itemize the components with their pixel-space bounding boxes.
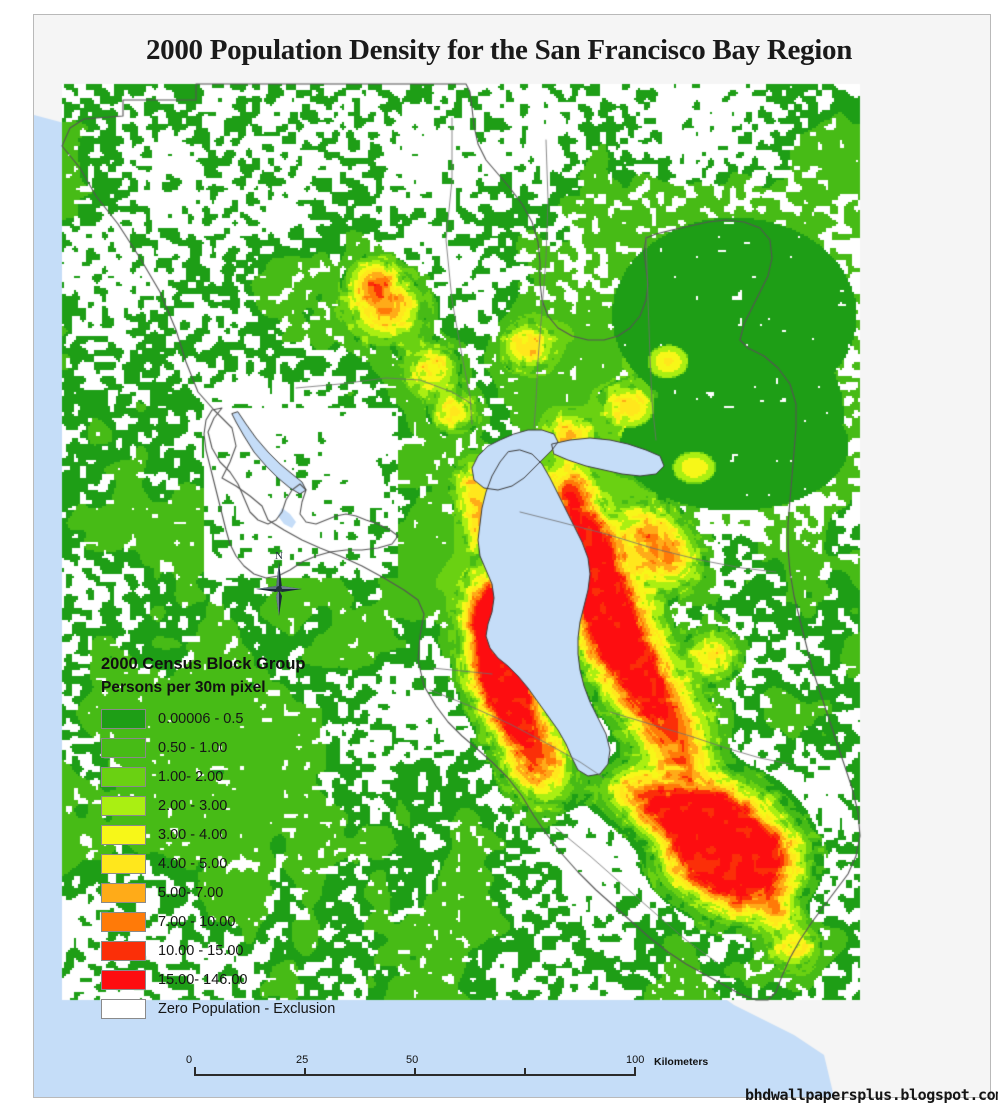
scalebar-endcap xyxy=(194,1067,196,1076)
legend-label: 1.00- 2.00 xyxy=(158,769,223,785)
legend-swatch xyxy=(101,941,146,961)
legend-swatch xyxy=(101,767,146,787)
legend-label: 4.00 - 5.00 xyxy=(158,856,227,872)
legend-row: 7.00 - 10.00 xyxy=(101,907,335,936)
legend-items: 0.00006 - 0.50.50 - 1.001.00- 2.002.00 -… xyxy=(101,704,335,1023)
scalebar-tick-label: 50 xyxy=(406,1054,418,1066)
scalebar-endcap xyxy=(634,1067,636,1076)
legend-row: 0.00006 - 0.5 xyxy=(101,704,335,733)
legend-swatch xyxy=(101,825,146,845)
legend-label: 7.00 - 10.00 xyxy=(158,914,235,930)
scalebar-units-label: Kilometers xyxy=(654,1056,708,1068)
scalebar-tick-label: 25 xyxy=(296,1054,308,1066)
legend-title: 2000 Census Block Group xyxy=(101,655,335,674)
legend-subtitle: Persons per 30m pixel xyxy=(101,679,335,697)
legend-row: 15.00- 146.00 xyxy=(101,965,335,994)
legend-swatch xyxy=(101,970,146,990)
scalebar-tick-label: 0 xyxy=(186,1054,192,1066)
north-arrow-label: N xyxy=(275,550,283,562)
legend-row: 0.50 - 1.00 xyxy=(101,733,335,762)
legend-swatch xyxy=(101,796,146,816)
legend-swatch xyxy=(101,912,146,932)
legend-label: 5.00- 7.00 xyxy=(158,885,223,901)
legend-swatch xyxy=(101,709,146,729)
legend-row: Zero Population - Exclusion xyxy=(101,994,335,1023)
legend-swatch xyxy=(101,883,146,903)
scalebar-tick xyxy=(414,1068,416,1075)
north-arrow: N xyxy=(254,546,304,618)
legend-row: 2.00 - 3.00 xyxy=(101,791,335,820)
legend-row: 4.00 - 5.00 xyxy=(101,849,335,878)
watermark: bhdwallpapersplus.blogspot.com xyxy=(745,1086,998,1104)
legend-label: 2.00 - 3.00 xyxy=(158,798,227,814)
legend-label: Zero Population - Exclusion xyxy=(158,1001,335,1017)
scalebar: 02550100 Kilometers xyxy=(186,1054,716,1088)
legend-label: 0.00006 - 0.5 xyxy=(158,711,243,727)
scalebar-tick xyxy=(304,1068,306,1075)
legend-row: 1.00- 2.00 xyxy=(101,762,335,791)
legend-row: 3.00 - 4.00 xyxy=(101,820,335,849)
scalebar-tick-label: 100 xyxy=(626,1054,644,1066)
compass-rose-icon: N xyxy=(254,546,304,618)
legend-row: 5.00- 7.00 xyxy=(101,878,335,907)
legend-label: 3.00 - 4.00 xyxy=(158,827,227,843)
legend: 2000 Census Block Group Persons per 30m … xyxy=(101,655,335,1023)
legend-row: 10.00 - 15.00 xyxy=(101,936,335,965)
legend-label: 0.50 - 1.00 xyxy=(158,740,227,756)
scalebar-tick xyxy=(524,1068,526,1075)
legend-swatch xyxy=(101,999,146,1019)
legend-swatch xyxy=(101,854,146,874)
legend-label: 10.00 - 15.00 xyxy=(158,943,243,959)
map-page: 2000 Population Density for the San Fran… xyxy=(0,0,998,1116)
legend-swatch xyxy=(101,738,146,758)
legend-label: 15.00- 146.00 xyxy=(158,972,248,988)
